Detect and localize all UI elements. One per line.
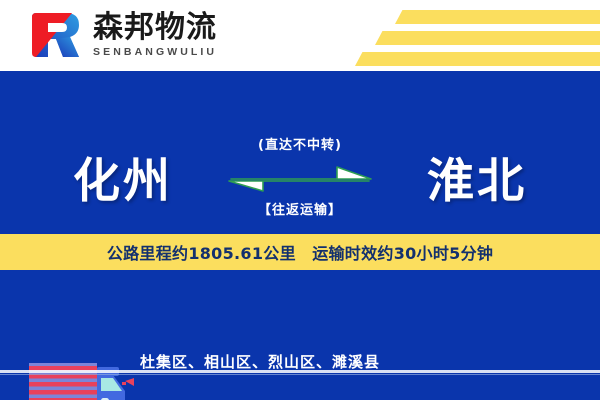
header-stripe-2 [375, 31, 600, 45]
poster-body: 化州 (直达不中转) 【往返运输】 淮北 公路里程约1805.61公里 运输时效… [0, 71, 600, 400]
header-stripe-1 [395, 10, 600, 24]
diagonal-stripes-icon [330, 0, 600, 71]
senbang-r-logo-icon [26, 9, 83, 61]
delivery-truck-icon [13, 353, 139, 400]
brand-logo[interactable]: 森邦物流 SENBANGWULIU [26, 9, 217, 61]
roundtrip-note: 【往返运输】 [258, 199, 342, 218]
header-stripe-3 [355, 52, 600, 66]
poster-header: 森邦物流 SENBANGWULIU [0, 0, 600, 71]
bottom-divider [0, 370, 600, 373]
bidirectional-arrow-icon [225, 157, 375, 193]
destination-city: 淮北 [382, 111, 572, 241]
brand-name-cn: 森邦物流 [93, 12, 217, 44]
info-band: 公路里程约1805.61公里 运输时效约30小时5分钟 [0, 234, 600, 270]
route-middle: (直达不中转) 【往返运输】 [215, 111, 385, 241]
distance-duration-text: 公路里程约1805.61公里 运输时效约30小时5分钟 [107, 240, 493, 264]
coverage-districts: 杜集区、相山区、烈山区、濉溪县 [140, 351, 380, 372]
brand-wordmark: 森邦物流 SENBANGWULIU [93, 12, 217, 59]
logistics-route-poster: 森邦物流 SENBANGWULIU 化州 (直达不中转) 【往返运输】 淮北 [0, 0, 600, 400]
route-row: 化州 (直达不中转) 【往返运输】 淮北 [0, 111, 600, 241]
bottom-divider-shadow [0, 374, 600, 375]
origin-city: 化州 [28, 111, 218, 241]
brand-name-en: SENBANGWULIU [93, 46, 217, 58]
direct-route-note: (直达不中转) [258, 134, 342, 153]
